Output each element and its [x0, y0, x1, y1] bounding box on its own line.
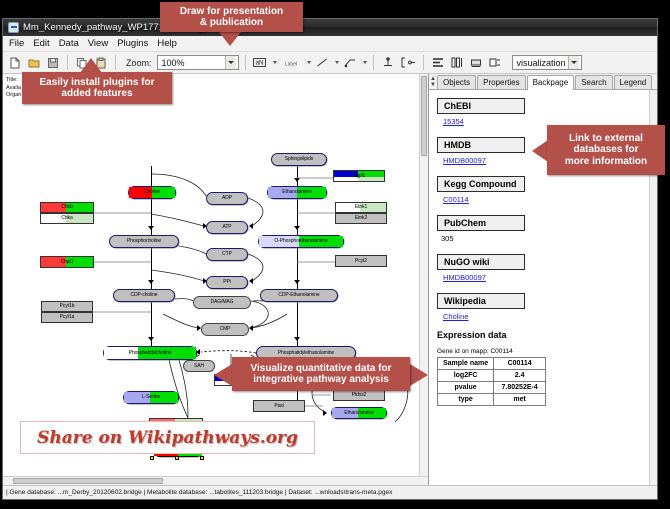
label-icon[interactable]: Label: [280, 55, 302, 71]
table-row: type met: [438, 394, 546, 406]
zoom-combo[interactable]: 100%: [157, 55, 239, 70]
arrow-2: [148, 280, 154, 284]
menu-bar: File Edit Data View Plugins Help: [3, 36, 657, 52]
arrow-atp-back: [249, 223, 253, 229]
node-label: CTP: [222, 252, 232, 257]
db-link-wikipedia[interactable]: Choline: [443, 312, 657, 321]
gene-pcyt1a[interactable]: Pcyt1a: [41, 312, 93, 323]
menu-item-help[interactable]: Help: [157, 38, 177, 49]
table-cell: C00114: [494, 358, 546, 370]
gene-label: Sgpl1: [353, 174, 365, 179]
gene-id-line: Gene id on mapp: C00114: [437, 348, 657, 355]
info-title: Title:: [6, 77, 21, 85]
info-available: Availa: [6, 85, 21, 93]
toolbar-separator-4: [373, 55, 374, 70]
title-bar: Mm_Kennedy_pathway_WP1771_45176.gp: [3, 19, 657, 36]
node-dag-mag[interactable]: DAG/MAG: [193, 296, 251, 309]
menu-item-view[interactable]: View: [88, 38, 108, 49]
node-label: ADP: [222, 196, 232, 201]
gene-sgpl1[interactable]: Sgpl1: [333, 170, 385, 182]
gene-label: Pcyt2: [355, 259, 367, 264]
node-label: Phosphocholine: [127, 239, 161, 244]
gene-chpt1[interactable]: Chpt1: [40, 256, 94, 268]
new-icon[interactable]: [7, 55, 23, 71]
toolbar-separator-1: [67, 55, 68, 70]
visualization-combo-arrow[interactable]: [568, 56, 579, 69]
node-label: Choline: [144, 190, 160, 195]
db-header-kegg: Kegg Compound: [437, 176, 525, 192]
info-organism: Organ: [6, 92, 21, 100]
table-row: Sample name C00114: [438, 358, 546, 370]
node-label: O-Phosphoethanolamine: [274, 239, 327, 244]
pathway-info-strip: Title: Availa Organ: [6, 77, 21, 100]
node-cmp[interactable]: CMP: [201, 323, 249, 336]
node-sah[interactable]: SAH: [183, 360, 215, 372]
table-cell: log2FC: [438, 370, 494, 382]
gene-pisd[interactable]: Pisd: [253, 400, 305, 412]
visualization-value: visualization: [517, 58, 566, 68]
gene-chka[interactable]: Chka: [40, 213, 94, 224]
node-label: PPi: [223, 280, 230, 285]
app-icon: [8, 22, 19, 33]
node-label: CDP-Ethanolamine: [278, 293, 319, 298]
table-cell: met: [494, 394, 546, 406]
menu-item-file[interactable]: File: [9, 38, 24, 49]
node-label: DAG/MAG: [211, 300, 234, 305]
gene-chkb[interactable]: Chkb: [40, 202, 94, 213]
selection-handle-sw[interactable]: [150, 456, 154, 460]
gene-label: Etnk2: [355, 216, 367, 221]
node-ctp[interactable]: CTP: [206, 248, 248, 261]
gene-etnk1[interactable]: Etnk1: [335, 202, 387, 213]
callout-draw-arrow-icon: [219, 32, 241, 46]
db-header-wikipedia: Wikipedia: [437, 293, 525, 309]
node-label: L-Serine: [142, 395, 160, 400]
status-text: | Gene database: ...m_Derby_20120602.bri…: [6, 489, 392, 496]
db-header-chebi: ChEBI: [437, 98, 525, 114]
toolbar-separator-2: [115, 55, 116, 70]
node-o-phosphoethanolamine[interactable]: O-Phosphoethanolamine: [258, 235, 344, 248]
expression-table: Sample name C00114 log2FC 2.4 pvalue 7.8…: [437, 357, 546, 406]
status-bar: | Gene database: ...m_Derby_20120602.bri…: [3, 485, 657, 499]
gene-pcyt1b[interactable]: Pcyt1b: [41, 301, 93, 312]
label-dropdown-icon[interactable]: [307, 61, 311, 64]
table-cell: type: [438, 394, 494, 406]
gene-label: Pcyt1b: [60, 304, 75, 309]
tab-search[interactable]: Search: [575, 75, 612, 89]
side-panel-tabs: ▲▼ Objects Properties Backpage Search Le…: [429, 74, 657, 90]
arrow-7: [294, 337, 300, 341]
gene-label: Ptdss2: [352, 393, 367, 398]
node-label: ATP: [222, 225, 231, 230]
node-label: Phosphatidylcholine: [129, 351, 172, 356]
arrow-5: [294, 226, 300, 230]
table-row: pvalue 7.80252E-4: [438, 382, 546, 394]
db-header-hmdb: HMDB: [437, 137, 525, 153]
interaction-icon[interactable]: [342, 55, 358, 71]
node-adp[interactable]: ADP: [206, 192, 248, 205]
gene-label: Chka: [61, 216, 72, 221]
node-l-serine-left[interactable]: L-Serine: [123, 391, 179, 404]
callout-draw: Draw for presentation & publication: [160, 2, 303, 32]
db-header-nugo: NuGO wiki: [437, 254, 525, 270]
tab-legend[interactable]: Legend: [614, 75, 653, 89]
share-text: Share on Wikipathways.org: [37, 428, 298, 448]
node-label: Sphingolipids: [285, 157, 313, 162]
gene-label: Chkb: [61, 205, 72, 210]
callout-visualize: Visualize quantitative data for integrat…: [232, 357, 410, 391]
db-link-kegg[interactable]: C00114: [443, 195, 657, 204]
node-label: SAH: [194, 364, 204, 369]
zoom-value: 100%: [162, 58, 185, 68]
bracket-icon[interactable]: [399, 55, 417, 71]
arrow-ppi-back: [249, 278, 253, 284]
node-sphingolipids[interactable]: Sphingolipids: [271, 153, 327, 166]
node-phosphatidylcholine[interactable]: Phosphatidylcholine: [103, 346, 197, 360]
gene-label: Chpt1: [61, 260, 74, 265]
callout-links: Link to external databases for more info…: [547, 125, 665, 175]
node-cdp-ethanolamine[interactable]: CDP-Ethanolamine: [260, 289, 338, 302]
table-cell: Sample name: [438, 358, 494, 370]
gene-label: Pcyt1a: [60, 315, 75, 320]
menu-item-data[interactable]: Data: [59, 38, 79, 49]
group-icon[interactable]: [468, 55, 484, 71]
line-icon[interactable]: [314, 55, 330, 71]
db-header-pubchem: PubChem: [437, 215, 525, 231]
arrow-4: [294, 178, 300, 182]
svg-text:Label: Label: [284, 61, 296, 67]
table-cell: 7.80252E-4: [494, 382, 546, 394]
gene-pcyt2[interactable]: Pcyt2: [335, 255, 387, 267]
node-label: CMP: [220, 327, 231, 332]
node-label: CDP-choline: [131, 293, 158, 298]
callout-visualize-arrow-left-icon: [214, 364, 232, 386]
datanode-dropdown-icon[interactable]: [273, 61, 277, 64]
gene-label: Pisd: [274, 404, 283, 409]
tab-backpage[interactable]: Backpage: [527, 75, 575, 90]
align-icon[interactable]: [430, 55, 446, 71]
visualization-combo[interactable]: visualization: [512, 55, 582, 70]
node-atp[interactable]: ATP: [206, 221, 248, 234]
svg-text:aN: aN: [256, 61, 264, 67]
table-row: log2FC 2.4: [438, 370, 546, 382]
zoom-label: Zoom:: [126, 58, 152, 68]
arrow-cmp-in-2: [249, 325, 253, 331]
arrow-1: [148, 226, 154, 230]
edge-sphingo-etn: [297, 166, 298, 187]
interaction-dropdown-icon[interactable]: [363, 61, 367, 64]
edge-etn-pethn: [297, 199, 298, 236]
canvas-hscroll-thumb[interactable]: [13, 478, 163, 484]
canvas-vertical-scrollbar[interactable]: [419, 74, 428, 485]
menu-item-edit[interactable]: Edit: [33, 38, 49, 49]
menu-item-plugins[interactable]: Plugins: [117, 38, 148, 49]
tab-scroll-icon[interactable]: ▲▼: [430, 76, 436, 88]
callout-plugins-arrow-icon: [80, 58, 102, 73]
node-label: Ethanolamine: [282, 190, 311, 195]
layer-icon[interactable]: [487, 55, 503, 71]
node-label: Phosphatidylethanolamine: [278, 351, 334, 356]
node-ethanolamine-2[interactable]: Ethanolamine: [331, 407, 387, 419]
db-value-pubchem: 305: [441, 234, 657, 243]
callout-plugins: Easily install plugins for added feature…: [22, 72, 172, 104]
arrow-ethanolamine2: [323, 410, 327, 416]
callout-visualize-arrow-right-icon: [410, 364, 428, 386]
node-choline-top[interactable]: Choline: [128, 186, 176, 199]
node-phosphocholine[interactable]: Phosphocholine: [109, 235, 179, 248]
datanode-icon[interactable]: aN: [252, 55, 268, 71]
callout-share: Share on Wikipathways.org: [20, 421, 315, 454]
callout-links-arrow-icon: [532, 140, 548, 162]
db-link-nugo[interactable]: HMDB00097: [443, 273, 657, 282]
save-icon[interactable]: [45, 55, 61, 71]
table-cell: pvalue: [438, 382, 494, 394]
canvas-horizontal-scrollbar[interactable]: [3, 476, 428, 485]
anchor-icon[interactable]: [380, 55, 396, 71]
selection-handle-s[interactable]: [175, 456, 179, 460]
gene-etnk2[interactable]: Etnk2: [335, 213, 387, 224]
node-ppi[interactable]: PPi: [206, 276, 248, 289]
node-cdp-choline[interactable]: CDP-choline: [113, 289, 175, 302]
stack-icon[interactable]: [449, 55, 465, 71]
tab-objects[interactable]: Objects: [437, 75, 476, 89]
node-ethanolamine-1[interactable]: Ethanolamine: [267, 186, 327, 199]
line-dropdown-icon[interactable]: [335, 61, 339, 64]
screenshot-root: Mm_Kennedy_pathway_WP1771_45176.gp File …: [0, 0, 670, 509]
arrow-6: [294, 280, 300, 284]
open-icon[interactable]: [26, 55, 42, 71]
gene-label: Etnk1: [355, 205, 367, 210]
tab-properties[interactable]: Properties: [477, 75, 525, 89]
arrow-3: [148, 337, 154, 341]
zoom-combo-arrow[interactable]: [225, 56, 236, 69]
canvas-vscroll-thumb[interactable]: [421, 76, 427, 156]
toolbar-separator-3: [245, 55, 246, 70]
selection-handle-se[interactable]: [200, 456, 204, 460]
toolbar-separator-5: [423, 55, 424, 70]
node-label: Ethanolamine: [344, 411, 373, 416]
expression-data-title: Expression data: [437, 330, 657, 340]
table-cell: 2.4: [494, 370, 546, 382]
